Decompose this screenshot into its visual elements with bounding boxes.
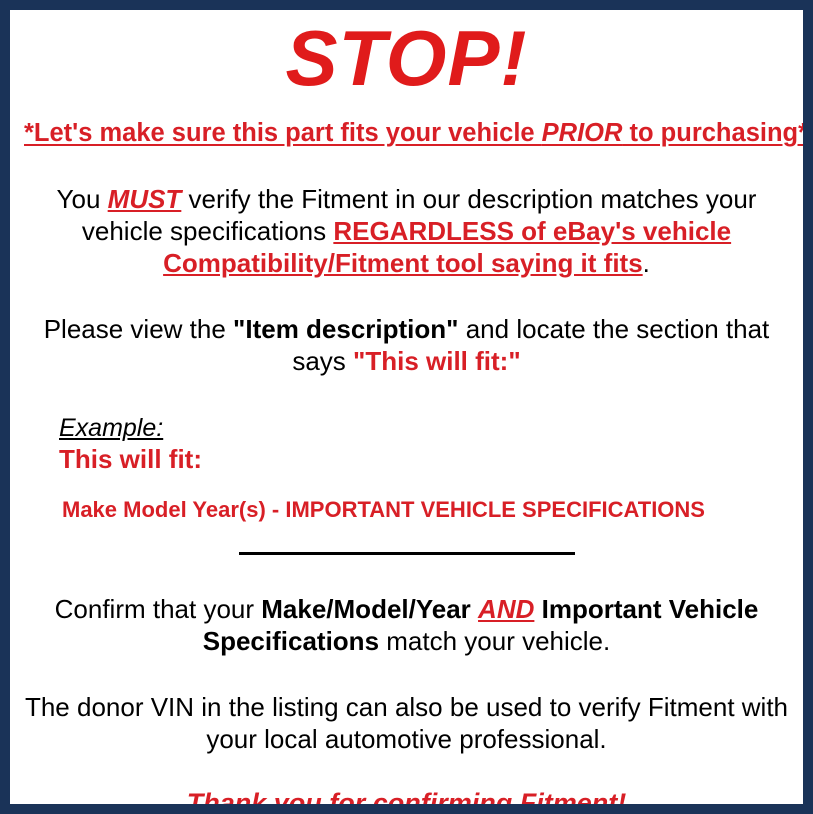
example-label-row: Example: xyxy=(59,413,789,443)
example-label: Example: xyxy=(59,413,163,443)
confirm-seg1: Confirm that your xyxy=(55,594,262,624)
this-will-fit-emphasis: "This will fit:" xyxy=(353,346,521,376)
and-emphasis: AND xyxy=(478,594,534,624)
confirm-space-b xyxy=(534,594,541,624)
page-title: STOP! xyxy=(24,10,789,100)
paragraph-confirm: Confirm that your Make/Model/Year AND Im… xyxy=(24,593,789,657)
notice-content: STOP! *Let's make sure this part fits yo… xyxy=(10,10,803,804)
subheadline-emphasis: PRIOR xyxy=(542,119,623,147)
fitment-notice-card: STOP! *Let's make sure this part fits yo… xyxy=(0,0,813,814)
confirm-space-a xyxy=(471,594,478,624)
paragraph-must-verify: You MUST verify the Fitment in our descr… xyxy=(24,183,789,279)
view-seg1: Please view the xyxy=(44,314,233,344)
example-block: Example: This will fit: Make Model Year(… xyxy=(24,413,789,523)
subheadline-suffix: to purchasing* xyxy=(622,119,808,147)
example-spec-line: Make Model Year(s) - IMPORTANT VEHICLE S… xyxy=(62,497,789,523)
must-seg1: You xyxy=(57,184,108,214)
paragraph-view-description: Please view the "Item description" and l… xyxy=(24,313,789,377)
example-fit-heading: This will fit: xyxy=(59,443,789,475)
subheadline-prefix: *Let's make sure this part fits your veh… xyxy=(24,119,542,147)
must-seg3: . xyxy=(643,248,650,278)
horizontal-divider xyxy=(239,552,575,555)
closing-thank-you: Thank you for confirming Fitment! xyxy=(24,787,789,814)
make-model-year-emphasis: Make/Model/Year xyxy=(261,594,471,624)
must-emphasis: MUST xyxy=(108,184,182,214)
confirm-seg2: match your vehicle. xyxy=(379,626,610,656)
item-description-emphasis: "Item description" xyxy=(233,314,458,344)
divider-row xyxy=(24,545,789,563)
paragraph-donor-vin: The donor VIN in the listing can also be… xyxy=(24,691,789,755)
subheadline: *Let's make sure this part fits your veh… xyxy=(24,118,789,149)
